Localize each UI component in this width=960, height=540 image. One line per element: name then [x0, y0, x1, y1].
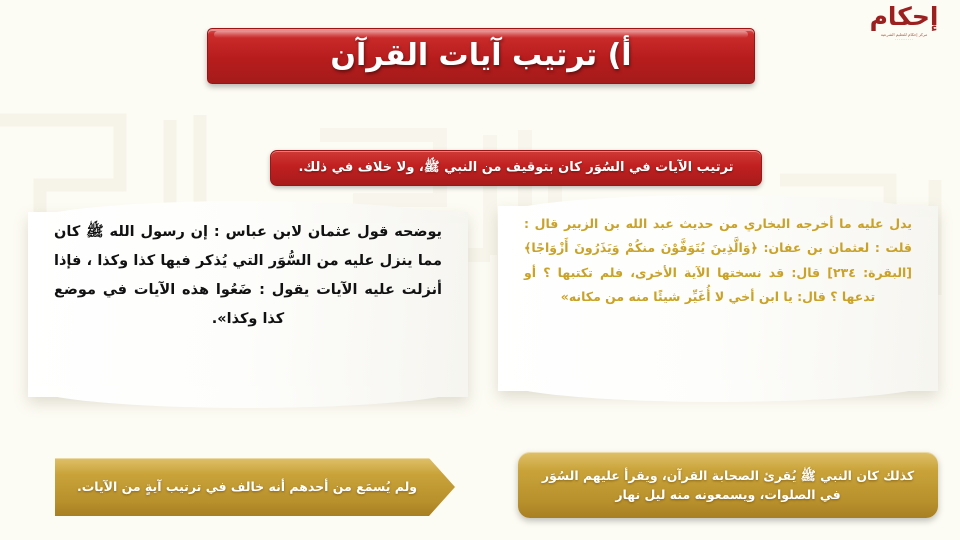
brand-logo: إحكام مركز إحكام للتعليم الشرعية ٠٠٠٠٠٠٠… [856, 4, 952, 41]
slide-title-bar: أ) ترتيب آيات القرآن [207, 28, 755, 84]
conclusion-banner-right-text: كذلك كان النبي ﷺ يُقرئ الصحابة القرآن، و… [518, 466, 938, 505]
card-left-text: يوضحه قول عثمان لابن عباس : إن رسول الله… [54, 218, 442, 334]
evidence-card-left: يوضحه قول عثمان لابن عباس : إن رسول الله… [28, 212, 468, 397]
card-right-body: يدل عليه ما أخرجه البخاري من حديث عبد ال… [498, 206, 938, 316]
conclusion-banner-right: كذلك كان النبي ﷺ يُقرئ الصحابة القرآن، و… [518, 452, 938, 518]
card-right-text: يدل عليه ما أخرجه البخاري من حديث عبد ال… [524, 212, 912, 310]
card-left-body: يوضحه قول عثمان لابن عباس : إن رسول الله… [28, 212, 468, 340]
logo-wordmark: إحكام [856, 4, 952, 29]
page-title: أ) ترتيب آيات القرآن [330, 41, 631, 71]
conclusion-banner-left: ولم يُسمَع من أحدهم أنه خالف في ترتيب آي… [55, 458, 455, 516]
conclusion-banner-left-text: ولم يُسمَع من أحدهم أنه خالف في ترتيب آي… [59, 477, 451, 496]
evidence-card-right: يدل عليه ما أخرجه البخاري من حديث عبد ال… [498, 206, 938, 391]
statement-banner: ترتيب الآيات في السُوَر كان بتوقيف من ال… [270, 150, 762, 186]
statement-text: ترتيب الآيات في السُوَر كان بتوقيف من ال… [284, 159, 747, 178]
logo-subtitle-secondary: ٠٠٠٠٠٠٠٠٠٠ [856, 37, 952, 41]
